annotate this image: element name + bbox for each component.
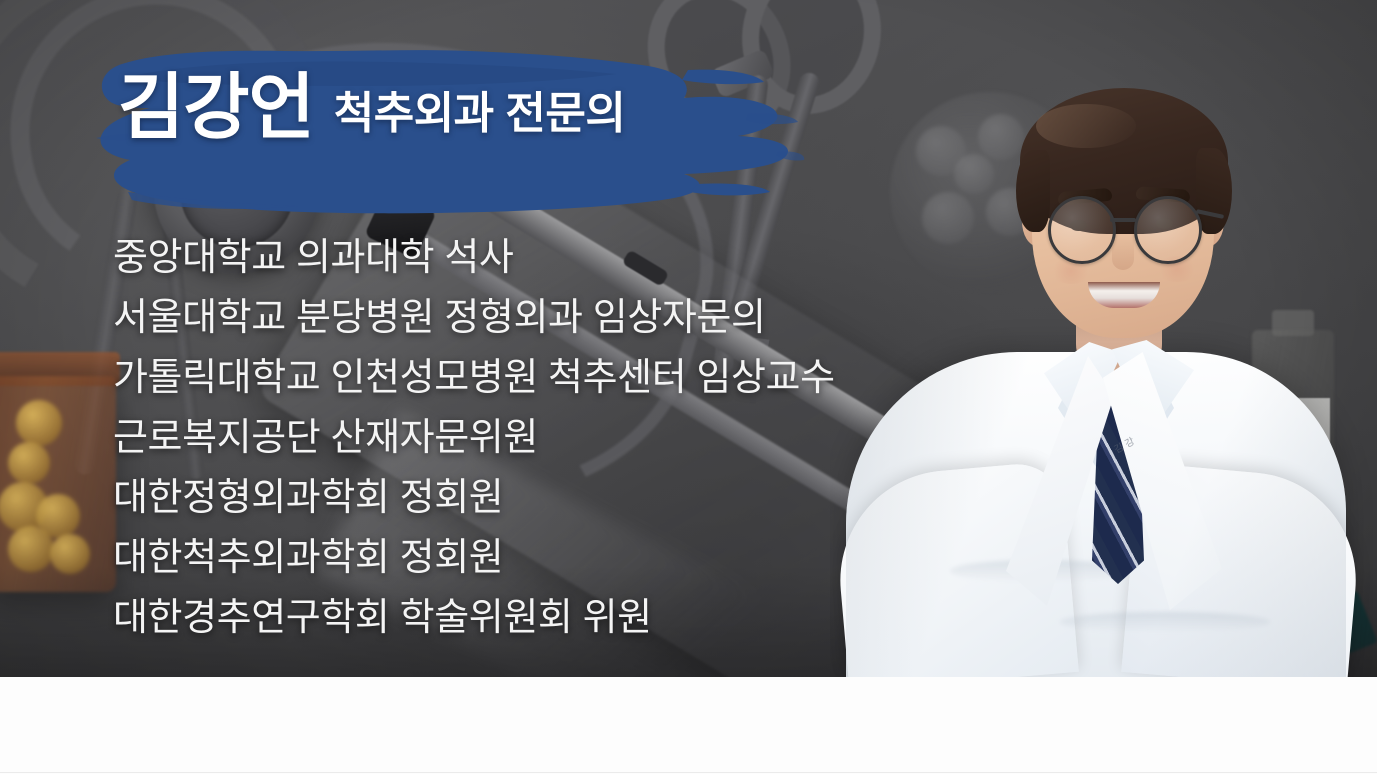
doctor-name: 김강언 — [118, 72, 314, 144]
doctor-profile-slide: Covid-19 Vaccine 김강언 척추외과 전문의 — [0, 0, 1377, 774]
bottom-white-area — [0, 677, 1377, 774]
eyeglasses-bridge — [1110, 218, 1136, 222]
doctor-portrait: 김강 — [830, 0, 1377, 677]
eyeglasses-lens-right — [1134, 196, 1202, 264]
hair-side-left — [1016, 150, 1050, 232]
doctor-specialty: 척추외과 전문의 — [334, 92, 626, 136]
coat-shading — [846, 352, 1346, 677]
eyeglasses-lens-left — [1048, 196, 1116, 264]
medical-background-photo: Covid-19 Vaccine 김강언 척추외과 전문의 — [0, 0, 1377, 677]
headline: 김강언 척추외과 전문의 — [118, 72, 625, 144]
hair-side-right — [1196, 148, 1232, 234]
nose — [1112, 236, 1134, 270]
bottom-divider-line — [0, 772, 1377, 773]
